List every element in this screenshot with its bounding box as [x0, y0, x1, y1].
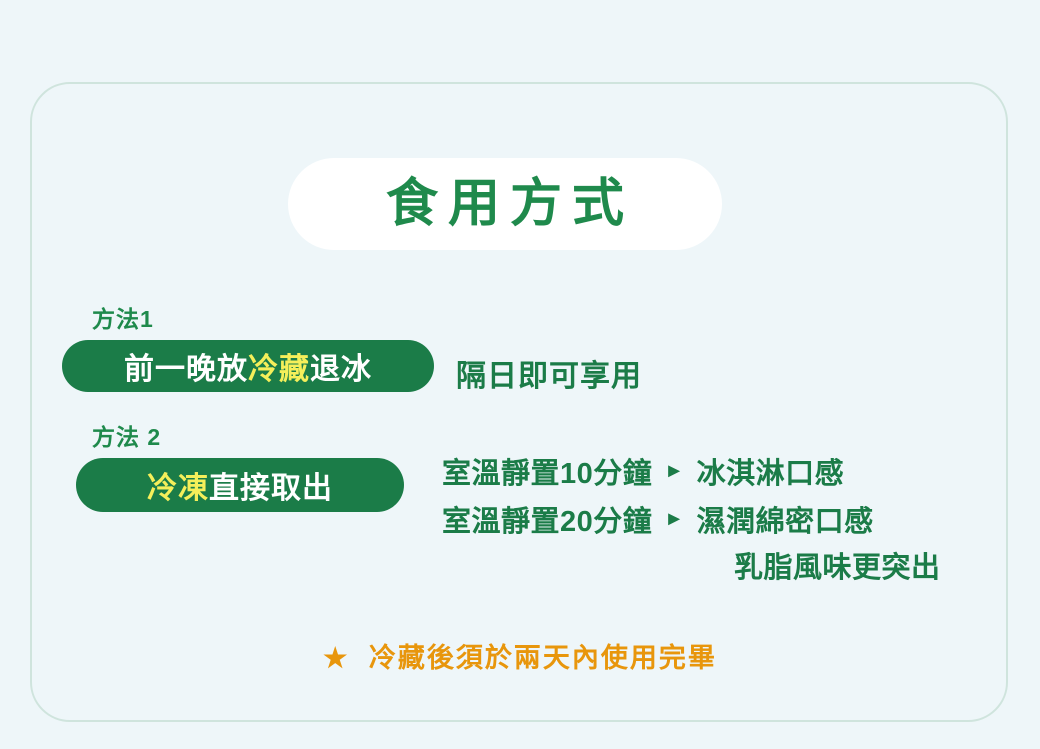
method-2-row-1-result: 冰淇淋口感: [697, 450, 845, 492]
footer-note: ★ 冷藏後須於兩天內使用完畢: [0, 636, 1040, 675]
method-1-pill: 前一晚放 冷藏 退冰: [62, 340, 434, 392]
method-1-pill-suffix: 退冰: [310, 344, 372, 388]
method-1-label: 方法1: [92, 300, 154, 334]
page-title: 食用方式: [376, 178, 634, 230]
method-2-pill-highlight: 冷凍: [147, 463, 209, 507]
method-2-row-2-result-line2: 乳脂風味更突出: [734, 544, 941, 586]
method-2-pill-suffix: 直接取出: [209, 463, 333, 507]
method-2-row-2-time: 室溫靜置20分鐘: [442, 498, 652, 540]
method-2-pill: 冷凍 直接取出: [76, 458, 404, 512]
method-1-note: 隔日即可享用: [456, 351, 642, 395]
method-2-row-1-time: 室溫靜置10分鐘: [442, 450, 652, 492]
method-1-pill-prefix: 前一晚放: [124, 344, 248, 388]
method-2-row-2-result: 濕潤綿密口感: [697, 498, 874, 540]
arrow-right-icon: ►: [664, 509, 684, 529]
method-2-row-1: 室溫靜置10分鐘 ► 冰淇淋口感: [442, 450, 844, 492]
footer-note-text: 冷藏後須於兩天內使用完畢: [369, 643, 717, 673]
method-2-label: 方法 2: [92, 418, 161, 452]
star-icon: ★: [323, 643, 349, 673]
arrow-right-icon: ►: [664, 461, 684, 481]
method-1-pill-highlight: 冷藏: [248, 344, 310, 388]
title-pill: 食用方式: [288, 158, 722, 250]
method-2-row-2: 室溫靜置20分鐘 ► 濕潤綿密口感: [442, 498, 874, 540]
